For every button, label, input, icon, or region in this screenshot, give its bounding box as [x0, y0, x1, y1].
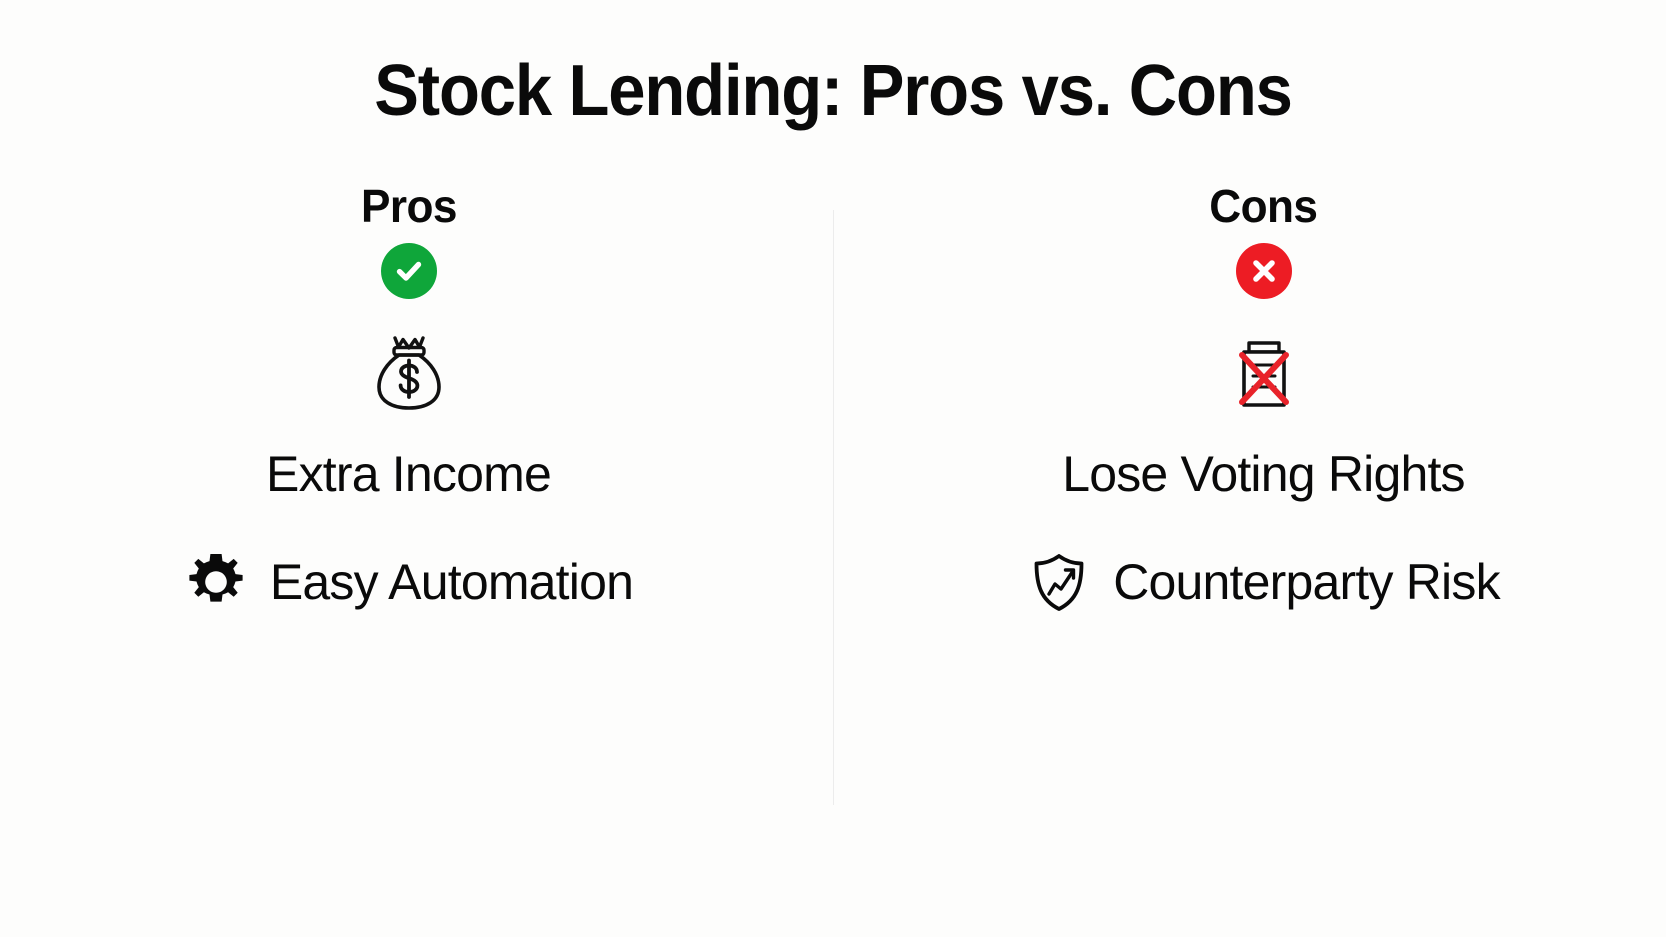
- page-title: Stock Lending: Pros vs. Cons: [58, 54, 1607, 130]
- cons-column: Cons Lose Voting Rights: [847, 183, 1666, 614]
- cons-feature-row: Counterparty Risk: [1027, 550, 1500, 614]
- pros-feature-row: Easy Automation: [184, 550, 633, 614]
- pros-headline: Extra Income: [266, 447, 551, 502]
- money-bag-icon: [365, 325, 453, 413]
- slide-canvas: Stock Lending: Pros vs. Cons Pros: [0, 0, 1666, 937]
- pros-column: Pros Extra Income: [0, 183, 825, 614]
- x-circle-icon: [1236, 243, 1292, 299]
- cons-heading: Cons: [1209, 183, 1317, 229]
- pros-cons-columns: Pros Extra Income: [0, 183, 1666, 614]
- ballot-box-crossed-out-icon: [1220, 325, 1308, 413]
- cons-headline: Lose Voting Rights: [1062, 447, 1465, 502]
- cons-feature-label: Counterparty Risk: [1113, 555, 1500, 610]
- gear-icon: [184, 550, 248, 614]
- shield-alert-icon: [1027, 550, 1091, 614]
- pros-heading: Pros: [361, 183, 457, 229]
- check-circle-icon: [381, 243, 437, 299]
- pros-feature-label: Easy Automation: [270, 555, 633, 610]
